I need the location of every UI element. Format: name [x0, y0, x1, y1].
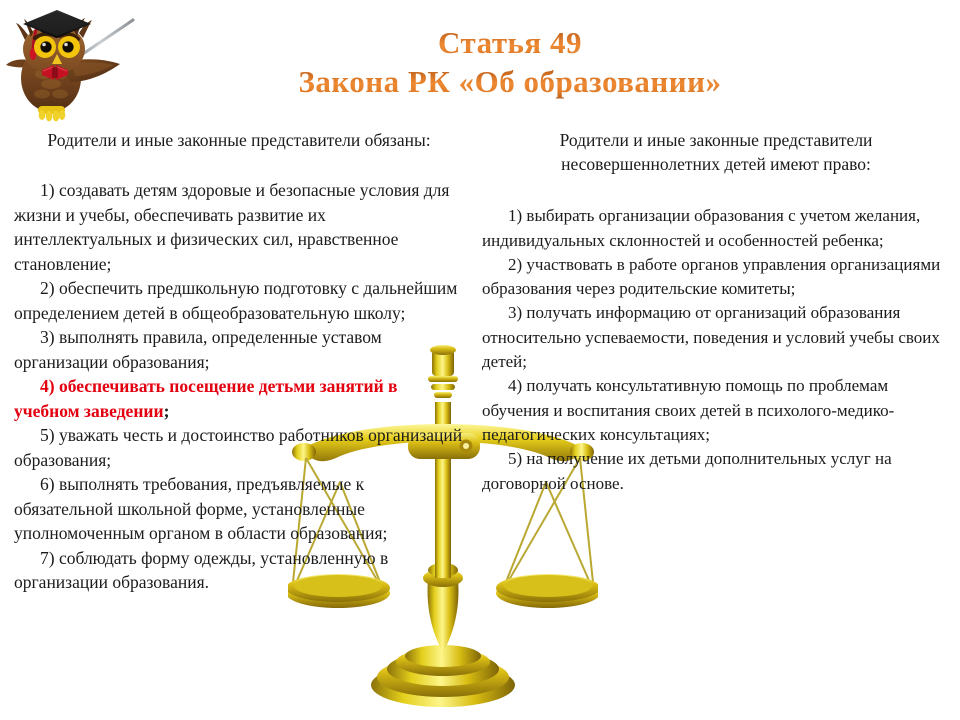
right-column: Родители и иные законные представители н…: [482, 128, 950, 496]
right-item-2: 2) участвовать в работе органов управлен…: [482, 253, 950, 302]
left-column-heading: Родители и иные законные представители о…: [14, 128, 464, 152]
left-item-4-text: 4) обеспечивать посещение детьми занятий…: [14, 376, 398, 421]
slide-canvas: Статья 49 Закона РК «Об образовании»: [0, 0, 960, 720]
left-item-6: 6) выполнять требования, предъявляемые к…: [14, 472, 464, 546]
owl-mascot-illustration: [2, 2, 202, 127]
left-item-4-highlighted: 4) обеспечивать посещение детьми занятий…: [14, 374, 464, 423]
scales-base: [371, 645, 515, 707]
title-line-2: Закона РК «Об образовании»: [200, 65, 820, 100]
left-item-2: 2) обеспечить предшкольную подготовку с …: [14, 276, 464, 325]
right-item-3: 3) получать информацию от организаций об…: [482, 301, 950, 374]
right-item-4: 4) получать консультативную помощь по пр…: [482, 374, 950, 447]
left-column: Родители и иные законные представители о…: [14, 128, 464, 595]
left-item-1: 1) создавать детям здоровые и безопасные…: [14, 178, 464, 276]
left-item-7: 7) соблюдать форму одежды, установленную…: [14, 546, 464, 595]
left-item-5: 5) уважать честь и достоинство работнико…: [14, 423, 464, 472]
slide-title: Статья 49 Закона РК «Об образовании»: [200, 26, 820, 99]
right-column-heading: Родители и иные законные представители н…: [482, 128, 950, 176]
right-item-5: 5) на получение их детьми дополнительных…: [482, 447, 950, 496]
owl-feet: [38, 106, 65, 121]
left-item-3: 3) выполнять правила, определенные устав…: [14, 325, 464, 374]
title-line-1: Статья 49: [200, 26, 820, 61]
left-item-4-tail: ;: [164, 401, 170, 421]
right-item-1: 1) выбирать организации образования с уч…: [482, 204, 950, 253]
